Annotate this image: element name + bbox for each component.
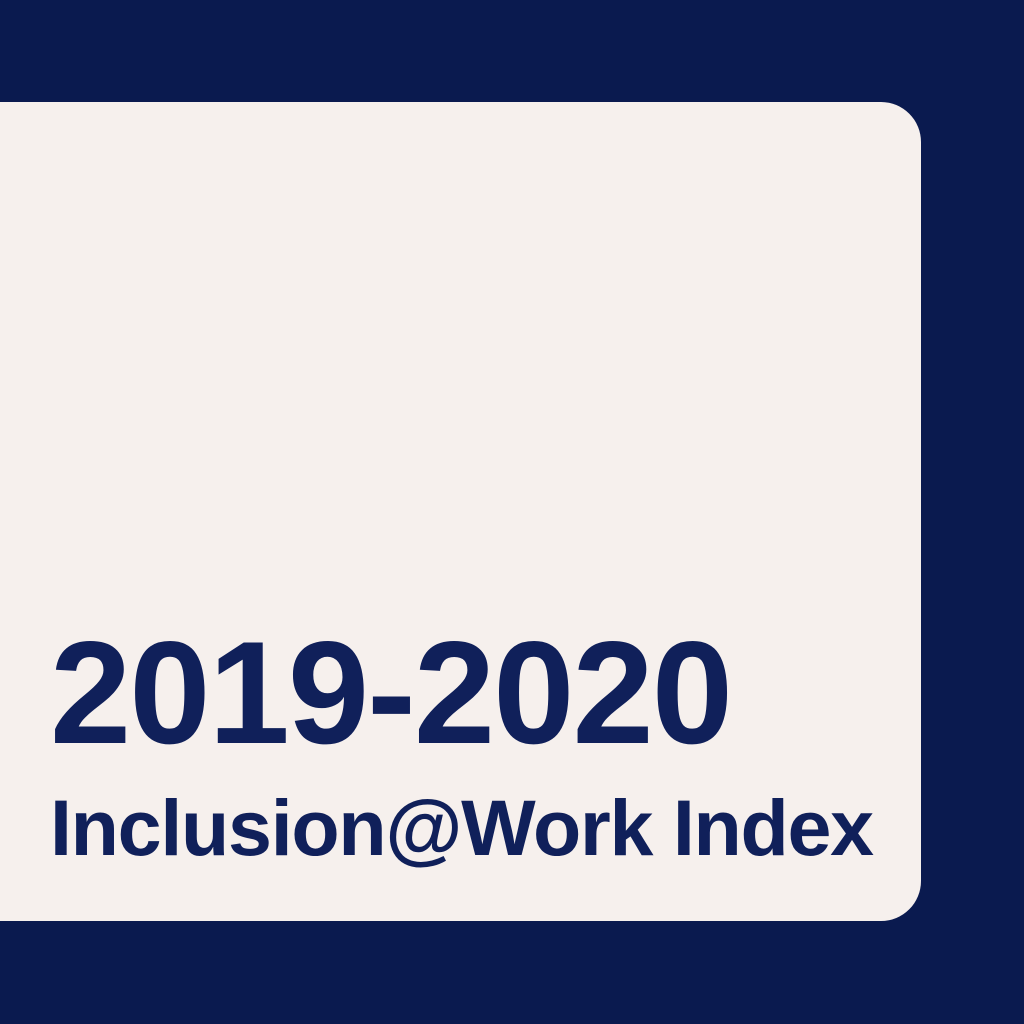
cover-page: 2019-2020 Inclusion@Work Index (0, 0, 1024, 1024)
cover-title: 2019-2020 (50, 636, 881, 750)
cover-card: 2019-2020 Inclusion@Work Index (0, 102, 921, 921)
cover-text-block: 2019-2020 Inclusion@Work Index (50, 636, 881, 859)
cover-subtitle: Inclusion@Work Index (50, 796, 881, 859)
